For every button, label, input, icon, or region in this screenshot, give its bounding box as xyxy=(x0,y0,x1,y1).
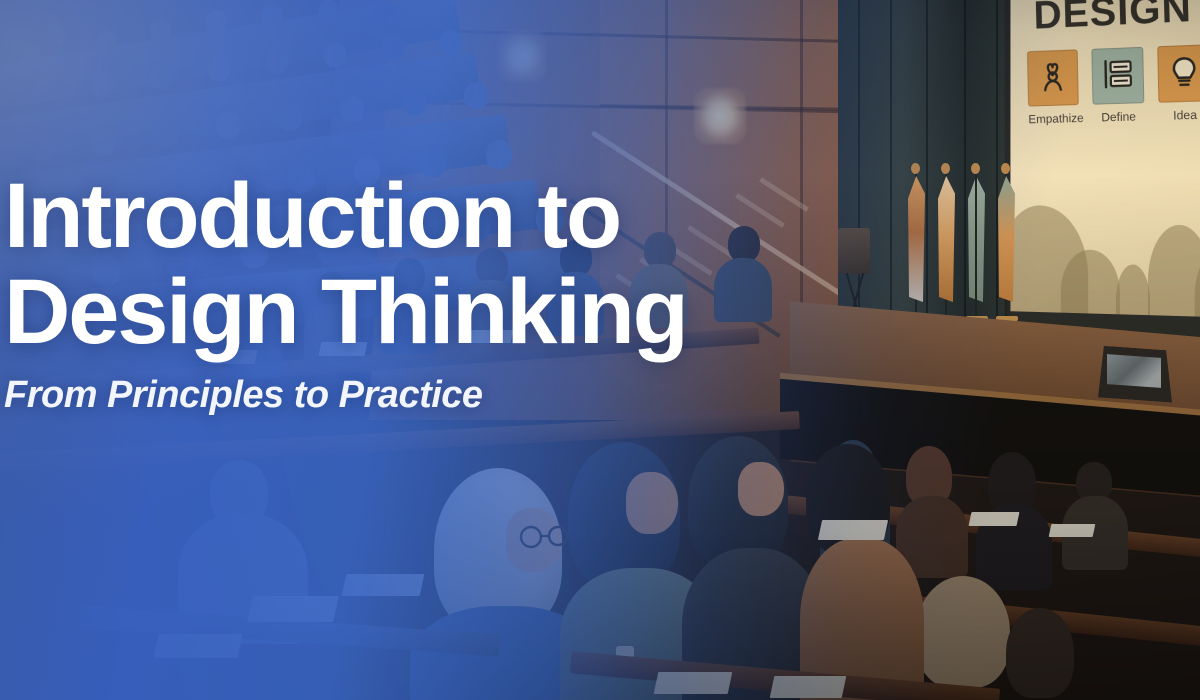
page-title-line-2: Design Thinking xyxy=(4,264,844,360)
step-card-ideate xyxy=(1157,44,1200,103)
slide-canvas: DESIGN Empathize xyxy=(0,0,1200,700)
audience-member-face xyxy=(738,462,784,516)
notepad-paper xyxy=(654,672,733,694)
lightbulb-icon xyxy=(1169,54,1200,93)
document-list-icon xyxy=(1101,57,1134,95)
step-card-define xyxy=(1091,47,1144,105)
audience-front-row xyxy=(420,420,980,700)
page-title-line-1: Introduction to xyxy=(4,168,844,264)
design-thinking-steps: Empathize xyxy=(1027,44,1200,126)
step-define: Define xyxy=(1091,47,1144,125)
notepad-paper xyxy=(818,520,888,540)
page-subtitle: From Principles to Practice xyxy=(4,374,844,416)
audience-left-foreground xyxy=(100,470,460,700)
eyeglasses-icon xyxy=(516,524,574,550)
confidence-monitor-screen xyxy=(1107,354,1161,388)
step-empathize: Empathize xyxy=(1027,49,1079,126)
person-heart-icon xyxy=(1038,59,1068,97)
step-label: Idea xyxy=(1159,107,1200,123)
step-card-empathize xyxy=(1027,49,1079,106)
title-block: Introduction to Design Thinking From Pri… xyxy=(4,168,844,416)
audience-member-face xyxy=(626,472,678,534)
projection-screen: DESIGN Empathize xyxy=(1010,0,1200,319)
step-ideate: Idea xyxy=(1157,44,1200,123)
step-label: Empathize xyxy=(1028,111,1079,126)
audience-silhouette-shadows xyxy=(1010,136,1200,319)
slide-heading: DESIGN xyxy=(1033,0,1193,39)
notepad-paper xyxy=(770,676,847,698)
step-label: Define xyxy=(1093,109,1145,124)
